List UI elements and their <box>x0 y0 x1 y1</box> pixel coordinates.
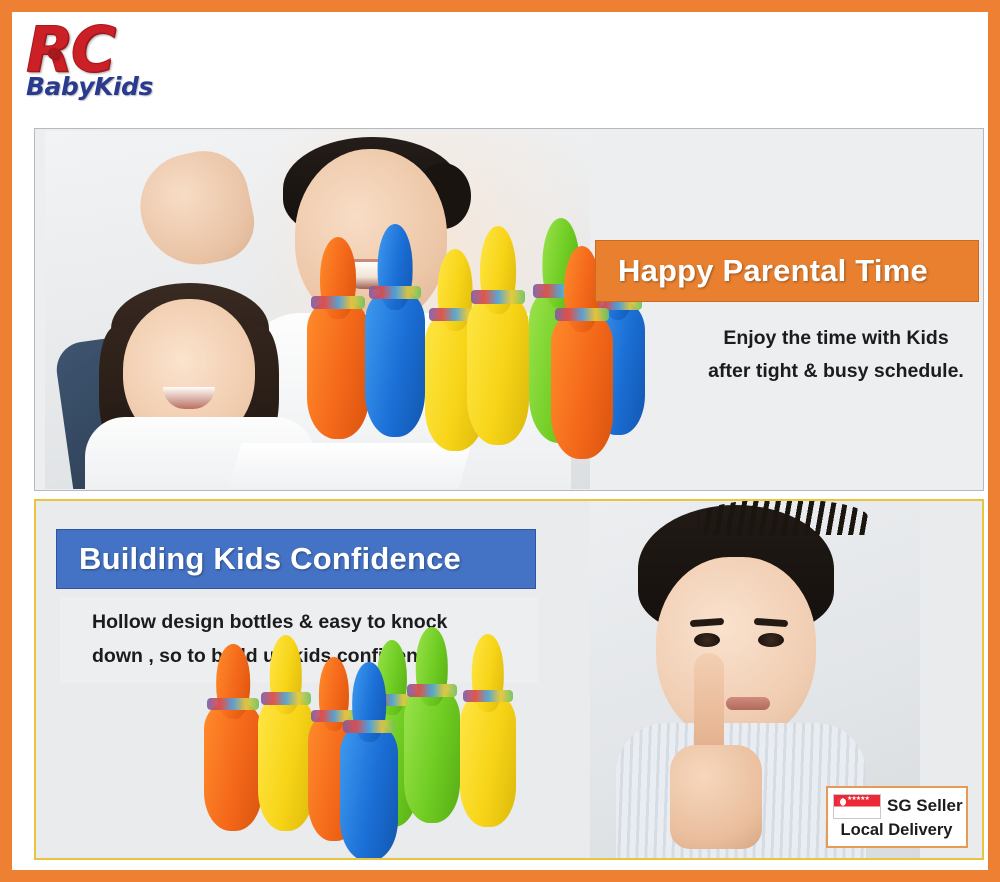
sg-seller-badge: ★★★★★ SG Seller Local Delivery <box>826 786 968 848</box>
crescent-icon <box>838 798 846 806</box>
logo-rc-mark: RC ® <box>26 18 113 82</box>
bowling-pin <box>258 695 314 831</box>
bowling-pin <box>404 687 460 823</box>
banner-happy-parental-time-label: Happy Parental Time <box>618 253 928 289</box>
banner-building-kids-confidence: Building Kids Confidence <box>56 529 536 589</box>
bowling-pin <box>204 701 262 831</box>
bowling-pin <box>467 293 529 445</box>
copy-top-line-1: Enjoy the time with Kids <box>671 322 984 355</box>
bowling-pin <box>307 299 369 439</box>
bowling-pin <box>340 723 398 860</box>
boy-mouth-shape <box>726 697 770 710</box>
panel-happy-parental-time: Happy Parental Time Enjoy the time with … <box>34 128 984 491</box>
paper-sheet-shape <box>228 443 471 489</box>
boy-head-shape <box>656 557 816 743</box>
copy-bottom-line-2: down , so to build up kids confidence <box>92 639 528 673</box>
bowling-pin <box>551 311 613 459</box>
bowling-pin <box>365 289 425 437</box>
boy-hair-spikes <box>698 501 868 535</box>
stars-icon: ★★★★★ <box>847 797 869 802</box>
panel-building-kids-confidence: Building Kids Confidence Hollow design b… <box>34 499 984 860</box>
bowling-pin <box>460 693 516 827</box>
local-delivery-label: Local Delivery <box>833 821 960 840</box>
copy-bottom-line-1: Hollow design bottles & easy to knock <box>92 605 528 639</box>
sg-seller-label: SG Seller <box>887 796 963 816</box>
banner-building-kids-confidence-label: Building Kids Confidence <box>79 541 461 577</box>
logo-rc-text: RC <box>26 13 113 86</box>
sg-seller-row: ★★★★★ SG Seller <box>833 792 960 820</box>
child-feet-shape <box>131 143 262 275</box>
boy-eye-right <box>758 633 784 647</box>
advertisement-frame: RC ® BabyKids <box>0 0 1000 882</box>
banner-happy-parental-time: Happy Parental Time <box>595 240 979 302</box>
boy-eye-left <box>694 633 720 647</box>
thumbs-up-hand <box>670 745 762 849</box>
advertisement-inner: RC ® BabyKids <box>12 12 988 870</box>
registered-trademark-icon: ® <box>46 22 61 86</box>
copy-top-line-2: after tight & busy schedule. <box>671 355 984 388</box>
copy-happy-parental-time: Enjoy the time with Kids after tight & b… <box>671 322 984 388</box>
brand-logo: RC ® BabyKids <box>26 18 216 118</box>
singapore-flag-icon: ★★★★★ <box>833 794 881 819</box>
